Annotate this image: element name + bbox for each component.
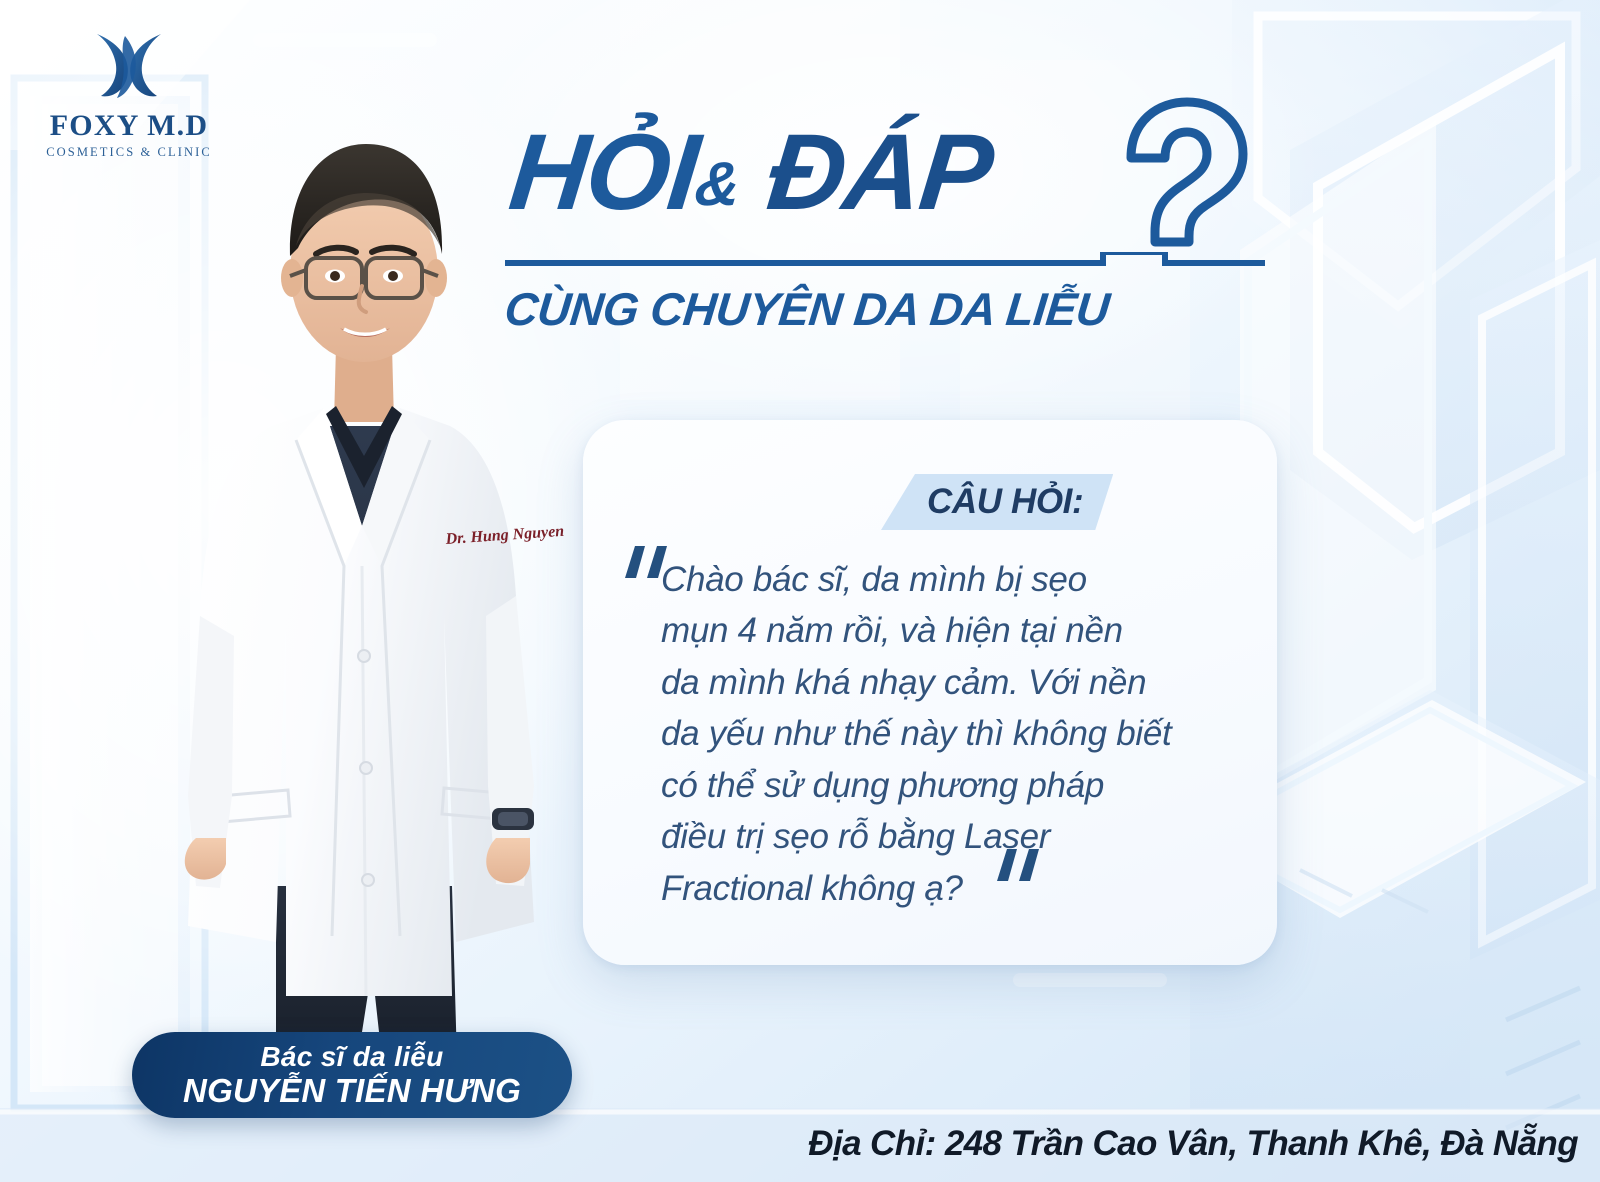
question-badge-label: CÂU HỎI: [927,482,1083,522]
question-mark-icon [1101,96,1271,276]
question-line: Fractional không ạ? [661,863,1241,914]
question-line: mụn 4 năm rồi, và hiện tại nền [661,605,1241,656]
question-line: có thể sử dụng phương pháp [661,760,1241,811]
question-badge: CÂU HỎI: [881,474,1113,530]
question-line: da mình khá nhạy cảm. Với nền [661,657,1241,708]
quote-close-icon [995,847,1041,887]
question-text: Chào bác sĩ, da mình bị sẹo mụn 4 năm rồ… [661,554,1241,914]
headline-ampersand: & [692,150,743,219]
question-line: da yếu như thế này thì không biết [661,708,1241,759]
headline-part2: ĐÁP [734,111,997,232]
poster-canvas: FOXY M.D COSMETICS & CLINIC HỎI& ĐÁP CÙN… [0,0,1600,1182]
headline-block: HỎI& ĐÁP CÙNG CHUYÊN DA DA LIỄU [505,118,1285,336]
doctor-name-banner: Bác sĩ da liễu NGUYỄN TIẾN HƯNG [132,1032,572,1118]
doctor-portrait: Dr. Hung Nguyen [100,96,620,1096]
question-line: điều trị sẹo rỗ bằng Laser [661,811,1241,862]
clinic-address: Địa Chỉ: 248 Trần Cao Vân, Thanh Khê, Đà… [808,1124,1578,1164]
doctor-name: NGUYỄN TIẾN HƯNG [183,1073,521,1110]
question-line: Chào bác sĩ, da mình bị sẹo [661,554,1241,605]
question-card: CÂU HỎI: Chào bác sĩ, da mình bị sẹo mụn… [583,420,1277,965]
doctor-role: Bác sĩ da liễu [260,1042,443,1071]
